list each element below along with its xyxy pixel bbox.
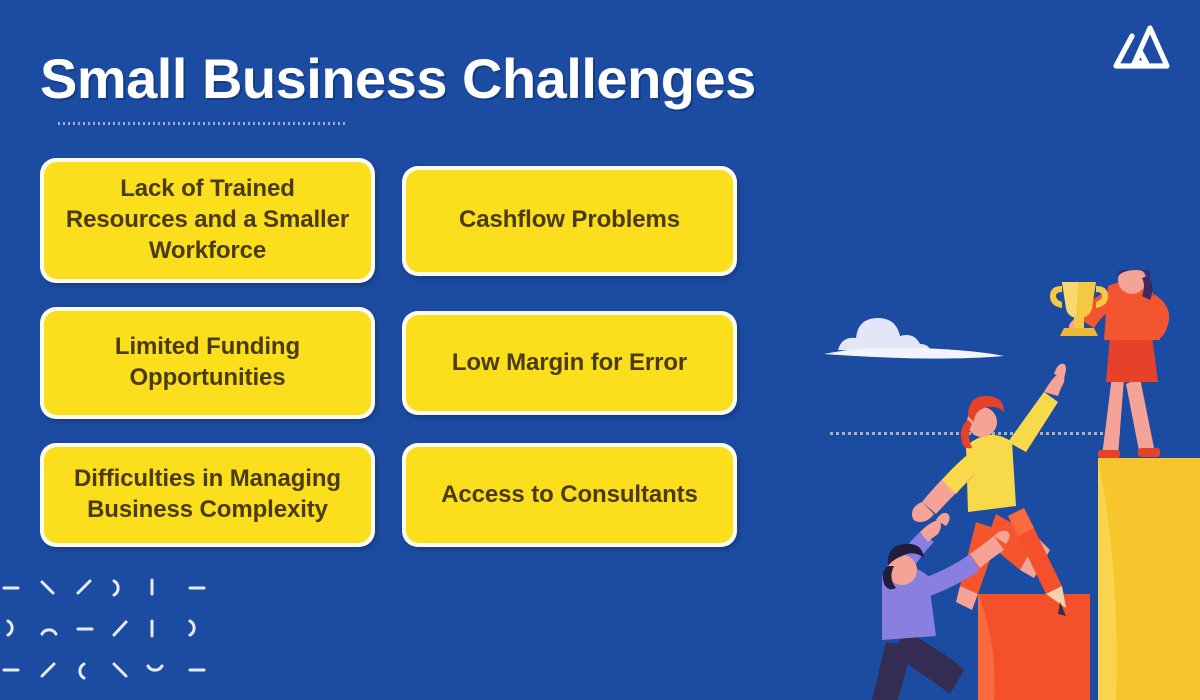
challenge-card[interactable]: Cashflow Problems xyxy=(402,166,737,276)
challenge-card-body: Lack of Trained Resources and a Smaller … xyxy=(44,162,371,279)
challenge-card-body: Limited Funding Opportunities xyxy=(44,311,371,415)
slide-root: Small Business Challenges Lack of Traine… xyxy=(0,0,1200,700)
bar-red xyxy=(978,594,1090,700)
challenge-card-body: Low Margin for Error xyxy=(406,315,733,411)
challenge-card[interactable]: Limited Funding Opportunities xyxy=(40,307,375,419)
challenge-card[interactable]: Difficulties in Managing Business Comple… xyxy=(40,443,375,547)
team-climbing-illustration xyxy=(810,270,1200,700)
challenge-card-label: Low Margin for Error xyxy=(452,348,687,379)
dash-arc-grid-pattern-icon xyxy=(0,572,230,692)
page-title: Small Business Challenges xyxy=(40,50,756,109)
challenge-card-body: Difficulties in Managing Business Comple… xyxy=(44,447,371,543)
challenge-card-label: Cashflow Problems xyxy=(459,205,680,236)
mountain-m-logo xyxy=(1110,22,1172,74)
challenges-card-grid: Lack of Trained Resources and a Smaller … xyxy=(40,158,740,547)
challenge-card-label: Difficulties in Managing Business Comple… xyxy=(58,464,357,525)
challenge-card-label: Lack of Trained Resources and a Smaller … xyxy=(58,174,357,266)
challenge-card-label: Limited Funding Opportunities xyxy=(58,332,357,393)
challenge-card[interactable]: Low Margin for Error xyxy=(402,311,737,415)
challenge-card[interactable]: Lack of Trained Resources and a Smaller … xyxy=(40,158,375,283)
challenge-card-body: Cashflow Problems xyxy=(406,170,733,272)
challenge-card[interactable]: Access to Consultants xyxy=(402,443,737,547)
challenge-card-label: Access to Consultants xyxy=(441,480,698,511)
cloud-icon xyxy=(824,318,1004,359)
title-divider xyxy=(58,122,348,125)
bar-yellow xyxy=(1098,458,1200,700)
challenge-card-body: Access to Consultants xyxy=(406,447,733,543)
